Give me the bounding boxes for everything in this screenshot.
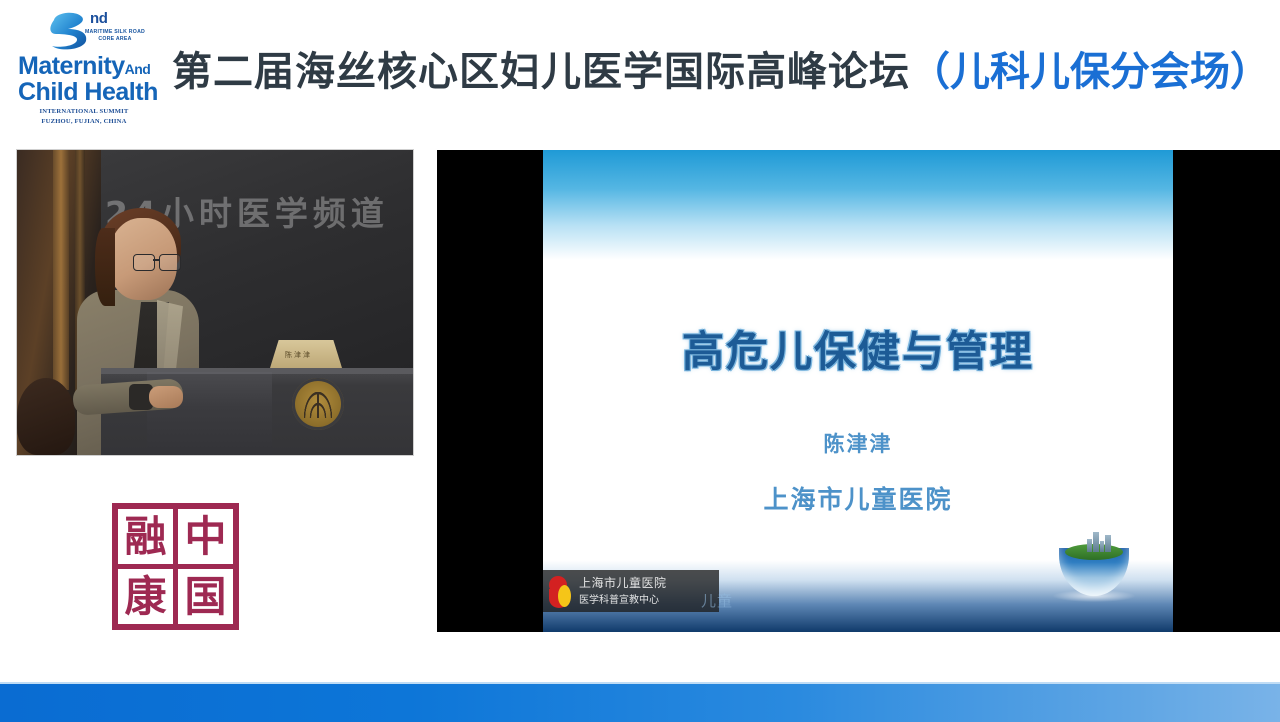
logo-ordinal: nd — [90, 10, 108, 27]
slide-ghost-text: 儿童 — [701, 590, 733, 611]
seal-char-bottom-left: 康 — [118, 569, 173, 624]
video-nameplate-text: 陈津津 — [285, 350, 312, 360]
slide-speaker-name: 陈津津 — [543, 428, 1173, 458]
slide-canvas: 高危儿保健与管理 陈津津 上海市儿童医院 上海市儿童医院 医学科普宣教中心 — [543, 150, 1173, 632]
watermark-text: 上海市儿童医院 医学科普宣教中心 — [579, 575, 667, 609]
page-title-main: 第二届海丝核心区妇儿医学国际高峰论坛 — [172, 49, 910, 95]
seal-char-top-left: 融 — [118, 509, 173, 564]
glasses-right-lens — [159, 254, 181, 271]
watermark-line-2: 医学科普宣教中心 — [579, 595, 659, 606]
page-title: 第二届海丝核心区妇儿医学国际高峰论坛（儿科儿保分会场） — [172, 46, 1270, 98]
video-wall-pillar — [53, 150, 69, 390]
slide-source-watermark: 上海市儿童医院 医学科普宣教中心 — [543, 570, 719, 612]
slide-top-gradient — [543, 150, 1173, 260]
audience-head — [17, 378, 75, 455]
speaker-glasses-icon — [133, 254, 181, 269]
watermark-line-1: 上海市儿童医院 — [579, 576, 667, 590]
page-header: nd MARITIME SILK ROAD CORE AREA Maternit… — [0, 0, 1280, 144]
logo-maritime-line: MARITIME SILK ROAD CORE AREA — [80, 29, 150, 44]
globe-skyline — [1087, 532, 1113, 552]
speaker-hand — [149, 386, 183, 408]
logo-sub-lines: INTERNATIONAL SUMMIT FUZHOU, FUJIAN, CHI… — [18, 107, 150, 127]
event-logo: nd MARITIME SILK ROAD CORE AREA Maternit… — [18, 8, 150, 134]
venue-emblem-icon — [292, 378, 344, 430]
flame-yellow — [558, 585, 571, 607]
slide-title: 高危儿保健与管理 — [543, 318, 1173, 379]
presentation-slide-panel[interactable]: 高危儿保健与管理 陈津津 上海市儿童医院 上海市儿童医院 医学科普宣教中心 — [437, 150, 1280, 632]
logo-mark-row: nd MARITIME SILK ROAD CORE AREA — [18, 8, 150, 54]
globe-city-icon — [1051, 532, 1137, 604]
organization-seal: 融 中 康 国 — [112, 503, 239, 630]
logo-main-line-1: MaternityAnd — [18, 52, 150, 81]
seal-char-bottom-right: 国 — [178, 569, 233, 624]
slide-organization: 上海市儿童医院 — [543, 480, 1173, 516]
seal-char-top-right: 中 — [178, 509, 233, 564]
page-bottom-accent-bar — [0, 682, 1280, 722]
logo-main-line-2: Child Health — [18, 78, 150, 107]
speaker-video-panel[interactable]: 24小时医学频道 陈津津 — [17, 150, 413, 455]
page-title-venue: （儿科儿保分会场） — [910, 49, 1270, 95]
watermark-flame-icon — [549, 576, 575, 608]
glasses-left-lens — [133, 254, 155, 271]
speaker-hair-side — [95, 228, 115, 306]
